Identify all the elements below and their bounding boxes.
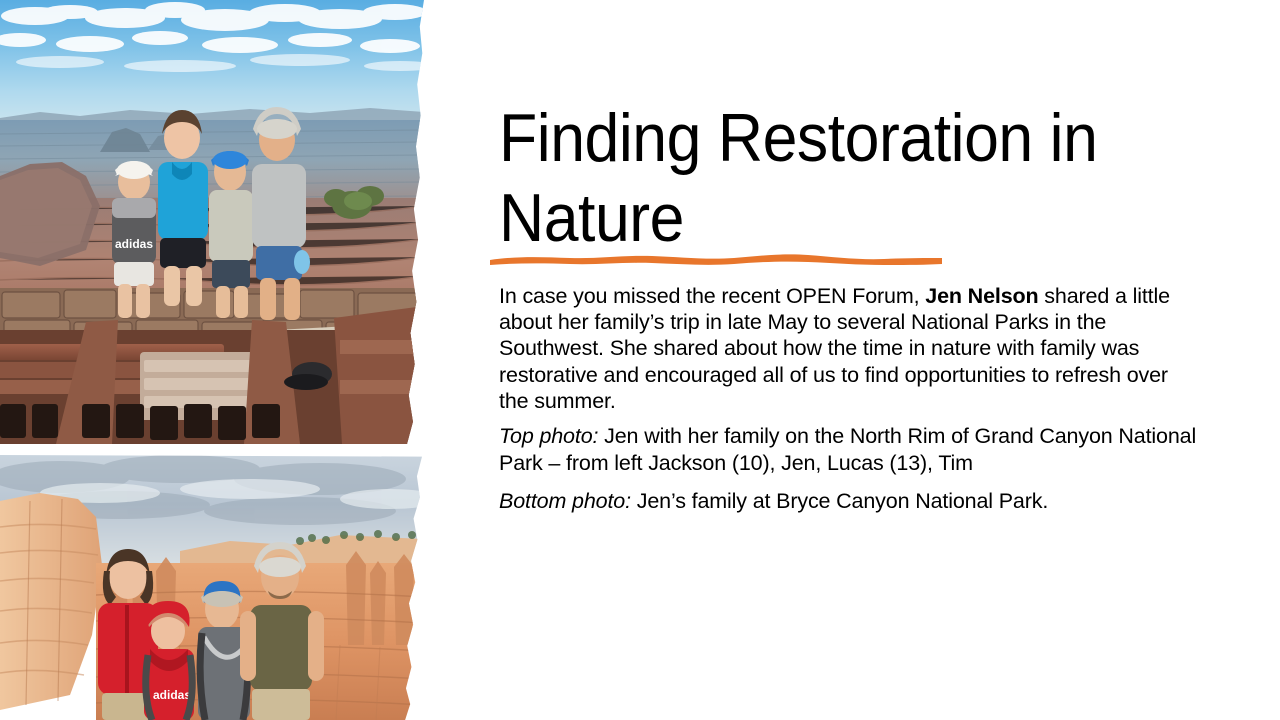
- svg-text:adidas: adidas: [153, 688, 191, 702]
- caption-bottom-label: Bottom photo:: [499, 489, 631, 513]
- paragraph-intro: In case you missed the recent OPEN Forum…: [499, 283, 1201, 414]
- text-column: Finding Restoration in Nature In case yo…: [499, 0, 1201, 720]
- caption-top-photo: Top photo: Jen with her family on the No…: [499, 423, 1201, 477]
- photo-column: adidas: [0, 0, 440, 720]
- caption-top-text: Jen with her family on the North Rim of …: [499, 424, 1196, 475]
- intro-lead: In case you missed the recent OPEN Forum…: [499, 284, 925, 308]
- page-title: Finding Restoration in Nature: [499, 98, 1143, 258]
- person-jackson-bryce: adidas: [144, 601, 194, 720]
- slide-root: adidas: [0, 0, 1280, 720]
- caption-bottom-text: Jen’s family at Bryce Canyon National Pa…: [631, 489, 1048, 513]
- highlight-name: Jen Nelson: [925, 284, 1038, 308]
- orange-brush-divider: [486, 246, 946, 270]
- svg-text:adidas: adidas: [115, 237, 153, 251]
- body-text-block: In case you missed the recent OPEN Forum…: [499, 283, 1201, 515]
- brush-stroke-icon: [486, 246, 946, 270]
- grand-canyon-image: adidas: [0, 0, 424, 444]
- bryce-canyon-image: adidas: [0, 455, 422, 720]
- photo-bryce-canyon[interactable]: adidas: [0, 455, 422, 720]
- photo-grand-canyon-north-rim[interactable]: adidas: [0, 0, 424, 444]
- caption-top-label: Top photo:: [499, 424, 598, 448]
- caption-bottom-photo: Bottom photo: Jen’s family at Bryce Cany…: [499, 488, 1201, 515]
